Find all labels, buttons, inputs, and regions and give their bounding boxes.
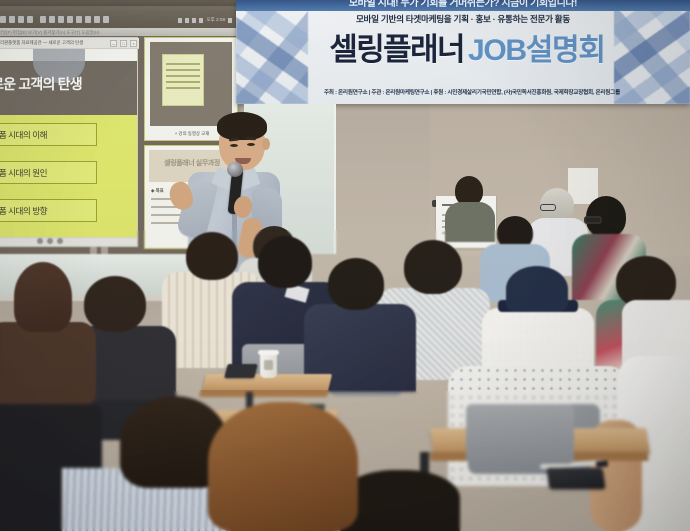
mail-icon[interactable] [40,16,46,23]
slide-bullet-box: 플랫폼 시대의 이해 [0,123,97,146]
audience-head [84,276,146,332]
sunglasses [584,216,602,224]
presentation-window[interactable]: 온리원플랫폼 자료제공관 — 새로운 고객의 탄생 — □ × 새로운 고객의 … [0,37,138,247]
banner-top-strip-text: 모바일 시대! 누가 기회를 거머쥐는가? 지금이 기회입니다! [236,0,690,9]
audience-cap [506,266,568,312]
play-icon[interactable] [37,238,43,244]
seminar-photograph: 오후 2:08 파일(F) 편집(E) 보기(V) 즐겨찾기(A) 도구(T) … [0,0,690,531]
smartphone-foreground [547,468,606,489]
pause-icon[interactable] [47,238,53,244]
window-title: 온리원플랫폼 자료제공관 — 새로운 고객의 탄생 [0,40,83,46]
banner-title-accent: JOB설명회 [468,34,605,67]
audience-head [340,470,460,531]
audience-head [258,236,312,288]
video-document-preview [162,54,204,106]
event-banner: 모바일 시대! 누가 기회를 거머쥐는가? 지금이 기회입니다! 모바일 기반의… [236,0,690,104]
minimize-icon[interactable]: — [110,40,117,47]
window-controls[interactable]: — □ × [110,40,137,47]
browser-menu-labels: 파일(F) 편집(E) 보기(V) 즐겨찾기(A) 도구(T) 도움말(H) [0,30,100,36]
slide-title: 새로운 고객의 탄생 [0,74,137,94]
audience-body [445,202,495,242]
slide-canvas: 새로운 고객의 탄생 플랫폼 시대의 이해 플랫폼 시대의 원인 플랫폼 시대의… [0,49,137,239]
eyeglasses [540,204,556,211]
presenter-eye-right [247,143,255,146]
audience-head [186,232,238,280]
audience-head [404,240,462,294]
browser-icon[interactable] [27,16,33,23]
close-icon[interactable]: × [130,40,137,47]
search-icon[interactable] [9,16,15,23]
network-icon[interactable] [192,18,196,23]
course-panel-label: ◈ 목표 [151,188,164,194]
powerpoint-icon[interactable] [49,16,55,23]
banner-credits: 주최 : 온리원연구소 | 주관 : 온리원마케팅연구소 | 후원 : 시민경제… [272,88,672,96]
banner-title: 셀링플래너JOB설명회 [282,24,652,69]
presenter-ear [262,138,270,150]
video-thumbnail [150,42,232,126]
app-icon[interactable] [94,16,100,23]
projected-dock[interactable] [90,247,108,254]
coffee-cup-lid [258,350,279,355]
app-icon-2[interactable] [103,16,109,23]
presenter-eye-left [230,144,238,147]
banner-title-main: 셀링플래너 [329,32,464,67]
window-titlebar[interactable]: 온리원플랫폼 자료제공관 — 새로운 고객의 탄생 — □ × [0,38,139,49]
chat-icon[interactable] [85,16,91,23]
audience-head [328,258,384,310]
chevron-up-icon[interactable] [185,18,189,23]
maximize-icon[interactable]: □ [120,40,127,47]
taskbar-clock[interactable]: 오후 2:08 [206,17,225,23]
windows-start-icon[interactable] [0,16,6,23]
foreground-head-brown-hair [208,402,358,531]
slide-bullet-box: 플랫폼 시대의 원인 [0,161,97,184]
microphone-head [227,162,243,177]
dark-wallet [224,364,257,378]
presenter-hair [217,112,267,140]
audience-head [14,262,72,332]
media-icon[interactable] [76,16,82,23]
pen-tip [596,461,608,468]
dock-icon-left[interactable] [90,247,97,254]
browser-menu-bar[interactable]: 파일(F) 편집(E) 보기(V) 즐겨찾기(A) 도구(T) 도움말(H) [0,28,238,36]
volume-icon[interactable] [199,18,203,23]
desk-edge [199,390,329,397]
keyboard-layout-icon[interactable] [178,18,182,23]
notification-icon[interactable] [228,18,232,23]
window-statusbar [0,237,137,246]
banner-top-strip: 모바일 시대! 누가 기회를 거머쥐는가? 지금이 기회입니다! [236,0,690,11]
system-tray[interactable]: 오후 2:08 [178,17,232,23]
coffee-cup-logo [264,360,273,370]
chair-back [466,404,574,464]
stop-icon[interactable] [57,238,63,244]
excel-icon[interactable] [58,16,64,23]
word-icon[interactable] [67,16,73,23]
slide-bullet-box: 플랫폼 시대의 방향 [0,199,97,222]
folder-icon[interactable] [18,16,24,23]
dock-icon-right[interactable] [101,247,108,254]
projected-taskbar: 오후 2:08 [0,10,238,28]
